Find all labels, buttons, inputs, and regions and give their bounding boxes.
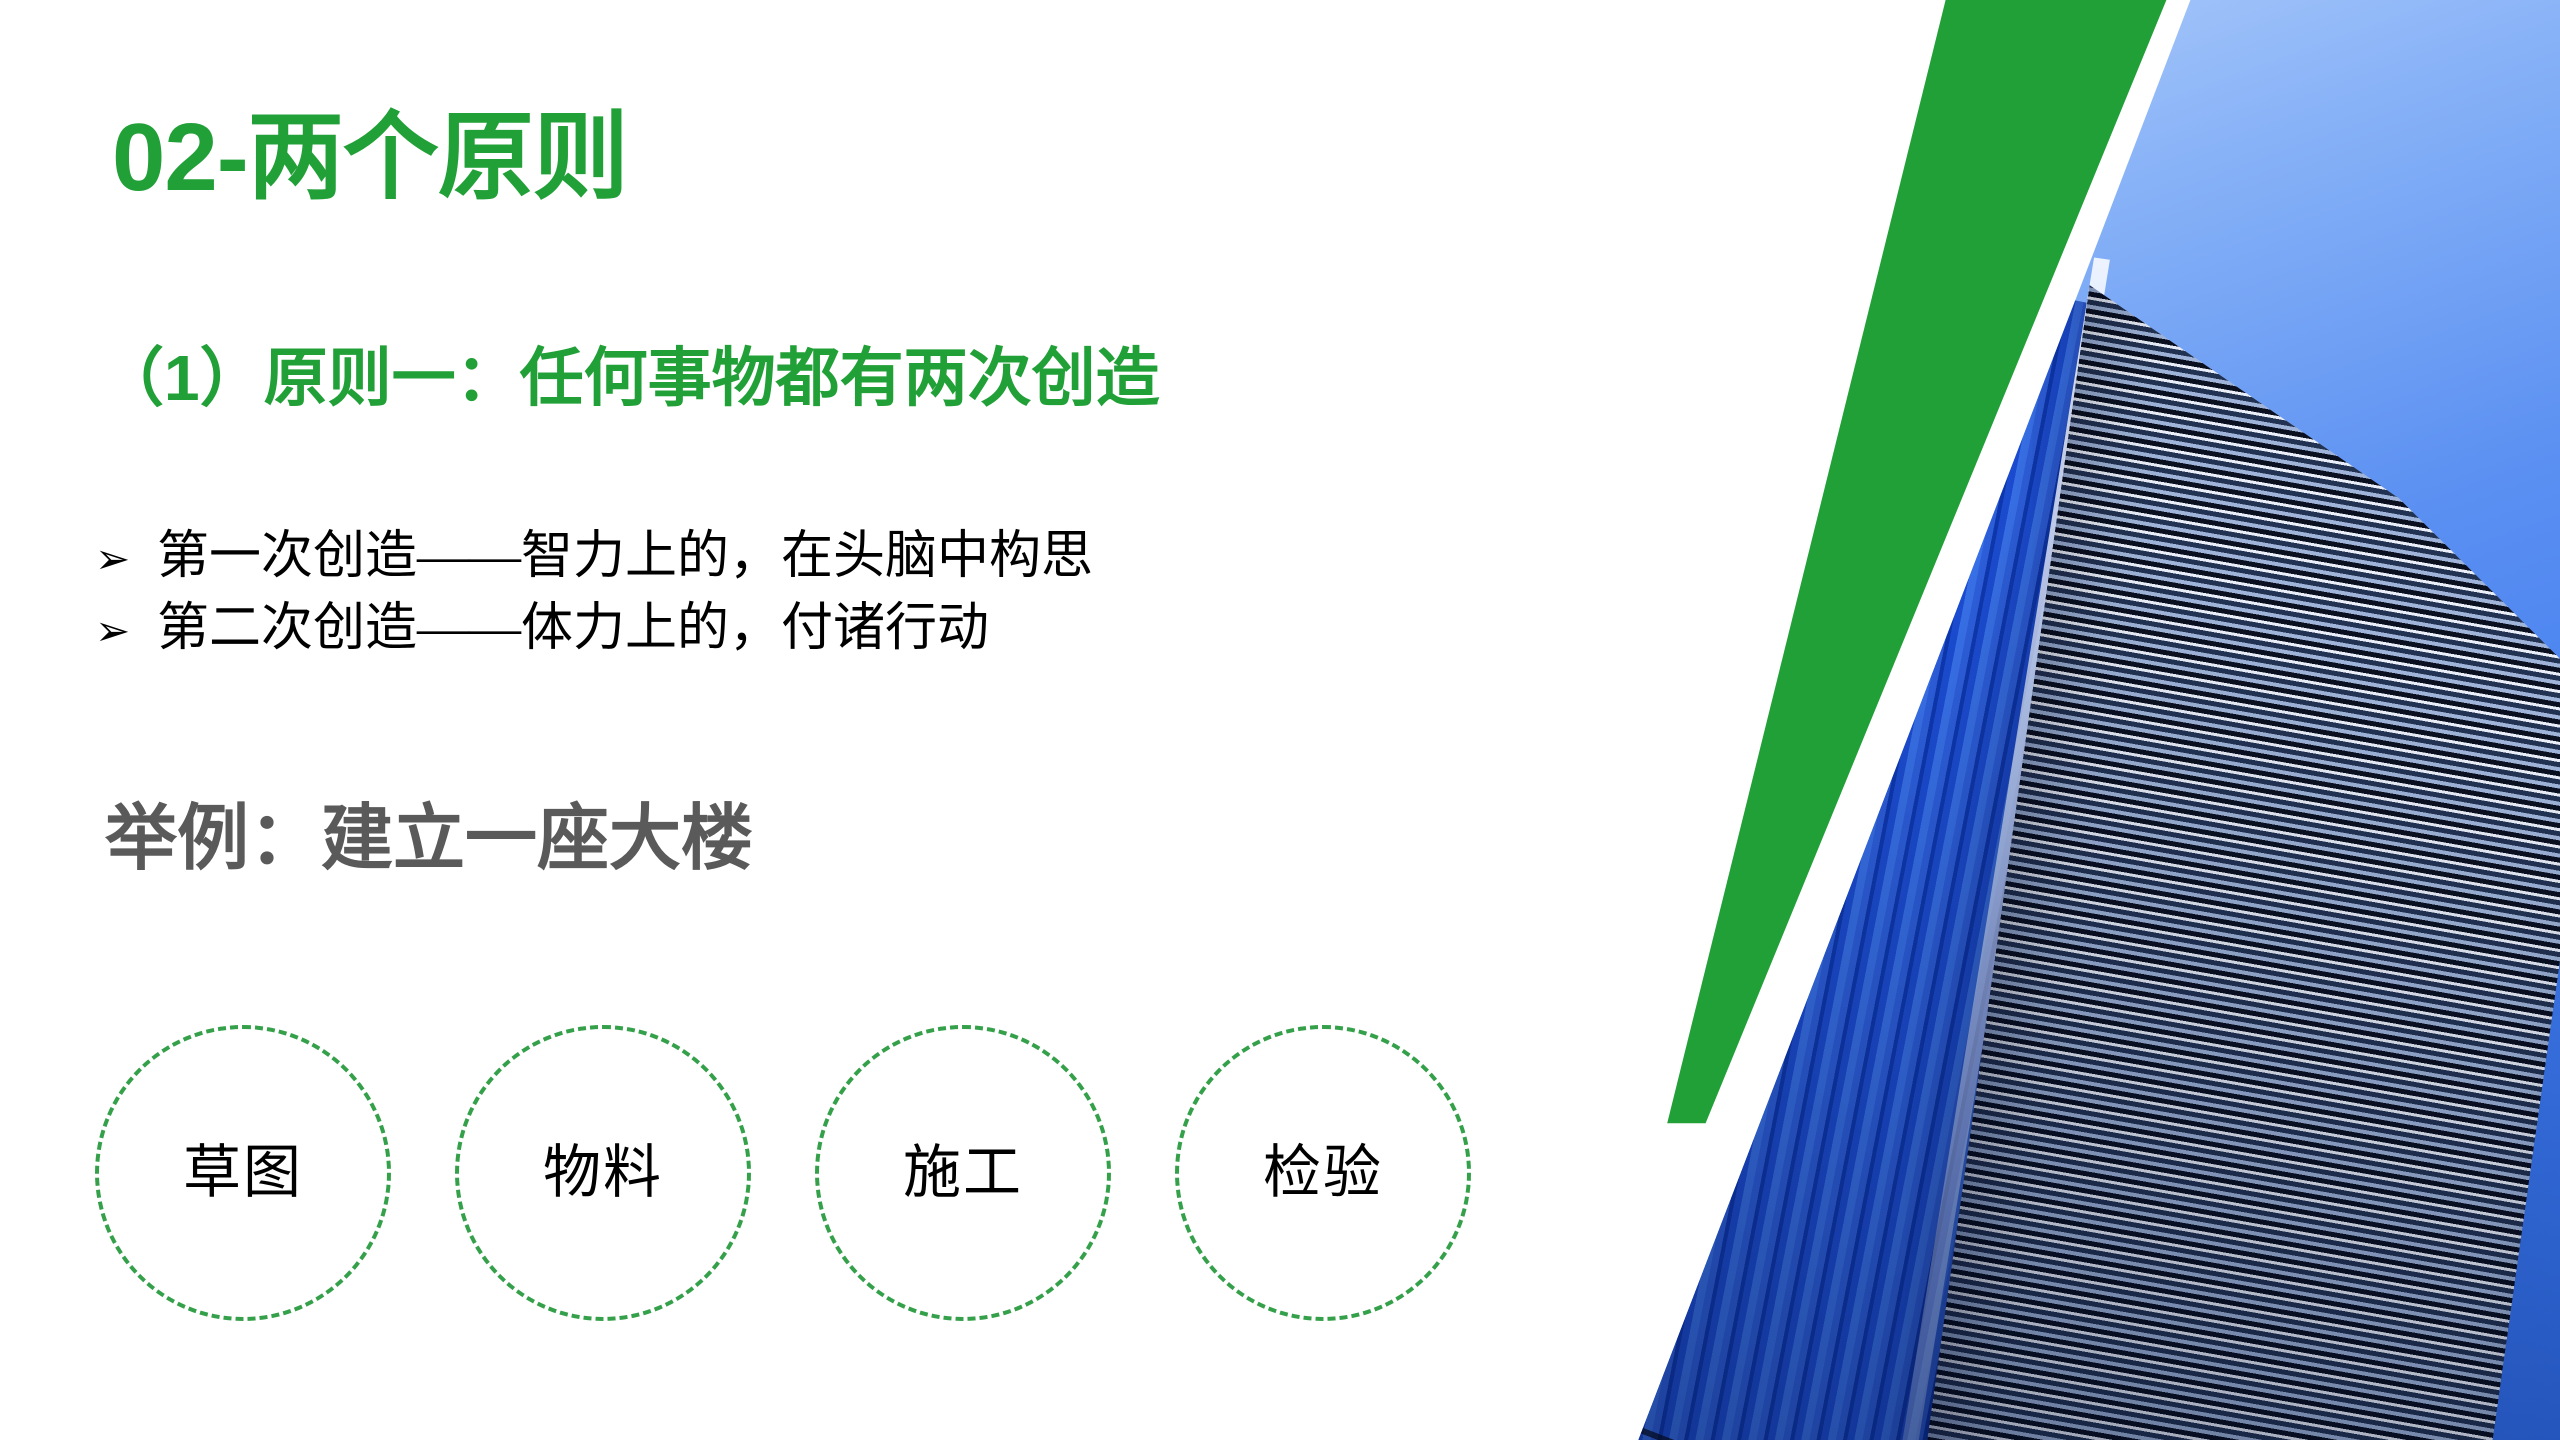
process-step-circle-2: 物料 xyxy=(455,1025,751,1321)
process-step-label: 施工 xyxy=(903,1144,1023,1202)
tower-back-face xyxy=(1600,422,1650,1440)
skyscraper-photo xyxy=(1600,0,2560,1440)
process-step-label: 检验 xyxy=(1263,1144,1383,1202)
slide-canvas: 02-两个原则 （1）原则一：任何事物都有两次创造 ➢ 第一次创造——智力上的，… xyxy=(0,0,2560,1440)
process-step-label: 草图 xyxy=(183,1144,303,1202)
process-step-circle-1: 草图 xyxy=(95,1025,391,1321)
example-heading: 举例：建立一座大楼 xyxy=(105,800,753,879)
list-item: ➢ 第二次创造——体力上的，付诸行动 xyxy=(95,600,1395,662)
process-step-circle-4: 检验 xyxy=(1175,1025,1471,1321)
process-step-circle-3: 施工 xyxy=(815,1025,1111,1321)
section-heading: （1）原则一：任何事物都有两次创造 xyxy=(100,343,1160,413)
bullet-list: ➢ 第一次创造——智力上的，在头脑中构思 ➢ 第二次创造——体力上的，付诸行动 xyxy=(95,528,1395,672)
process-step-row: 草图 物料 施工 检验 xyxy=(95,1025,1535,1325)
decorative-right-panel xyxy=(1600,0,2560,1440)
slide-content: 02-两个原则 （1）原则一：任何事物都有两次创造 ➢ 第一次创造——智力上的，… xyxy=(0,0,1620,1440)
photo-frame xyxy=(1600,0,2560,1440)
skyscraper-illustration xyxy=(1600,36,2560,1440)
list-item: ➢ 第一次创造——智力上的，在头脑中构思 xyxy=(95,528,1395,590)
page-title: 02-两个原则 xyxy=(112,108,628,209)
list-item-label: 第一次创造——智力上的，在头脑中构思 xyxy=(157,528,1093,586)
process-step-label: 物料 xyxy=(543,1144,663,1202)
list-item-label: 第二次创造——体力上的，付诸行动 xyxy=(157,600,989,658)
arrow-bullet-icon: ➢ xyxy=(95,538,157,580)
arrow-bullet-icon: ➢ xyxy=(95,610,157,652)
